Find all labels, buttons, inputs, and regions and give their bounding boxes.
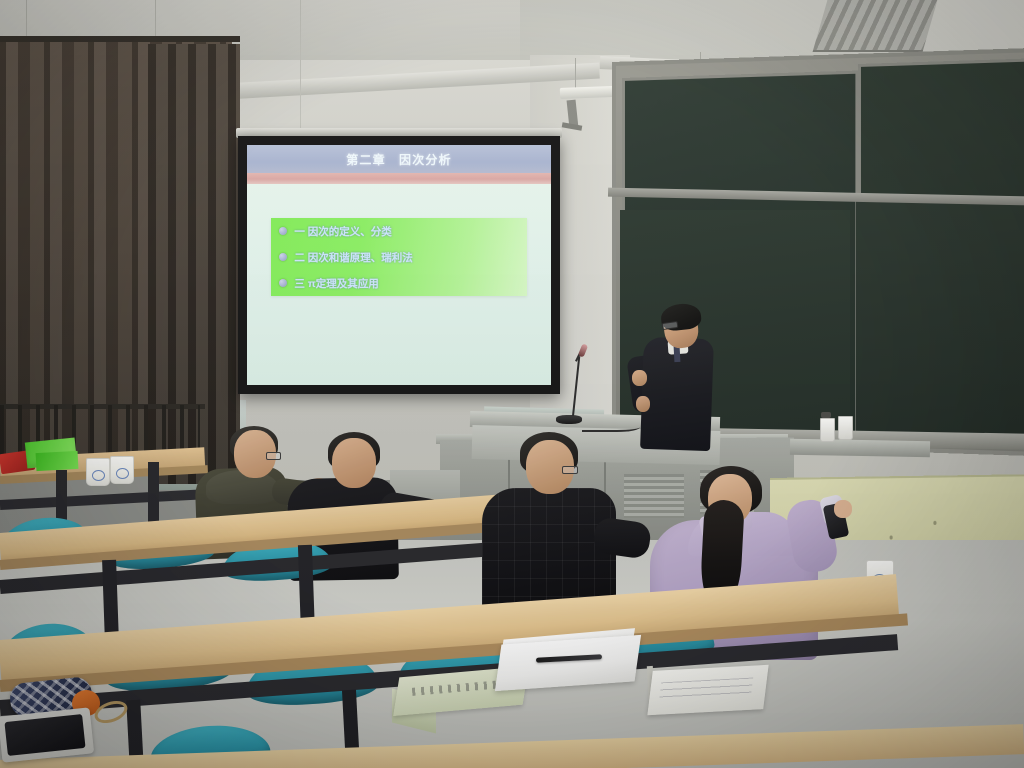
classroom-photo-scene: 第二章 因次分析 一 因次的定义、分类 二 因次和谐原理、瑞利法 三 π定理及其… (0, 0, 1024, 768)
lecturer-hand (632, 370, 647, 386)
bullet-dot-icon (279, 227, 287, 235)
attendee-1-hood (206, 470, 278, 504)
slide-divider-stripe (247, 173, 551, 184)
bullet-dot-icon (279, 253, 287, 261)
slide-bullet-text: 一 因次的定义、分类 (294, 224, 391, 239)
slide-highlight-box: 一 因次的定义、分类 二 因次和谐原理、瑞利法 三 π定理及其应用 (271, 218, 526, 296)
cup-logo-icon (92, 470, 105, 481)
lecturer-hand (636, 396, 650, 412)
list-item: 一 因次的定义、分类 (271, 218, 526, 244)
cup-logo-icon (116, 468, 129, 479)
slide-title-band: 第二章 因次分析 (247, 145, 551, 173)
list-item: 三 π定理及其应用 (271, 270, 526, 296)
paper-cup (820, 418, 835, 442)
lecturer-tie (674, 346, 681, 362)
list-item: 二 因次和谐原理、瑞利法 (271, 244, 526, 270)
blackboard-panel-lower (856, 200, 1024, 435)
paper-cup (838, 416, 853, 440)
slide-bullet-text: 三 π定理及其应用 (294, 276, 378, 291)
back-desk-shelf (0, 490, 200, 510)
slide-title: 第二章 因次分析 (346, 151, 452, 168)
attendee-2-head (332, 438, 376, 488)
glasses-icon (266, 452, 281, 460)
projector-screen: 第二章 因次分析 一 因次的定义、分类 二 因次和谐原理、瑞利法 三 π定理及其… (247, 145, 551, 385)
microphone-base (556, 415, 582, 424)
bullet-dot-icon (279, 279, 287, 287)
slide-bullet-text: 二 因次和谐原理、瑞利法 (294, 250, 412, 265)
cable (582, 420, 640, 432)
curtain-rod (0, 36, 240, 42)
lamp-wire (300, 0, 301, 135)
side-ledge (790, 439, 930, 457)
ceiling-vent-icon (813, 0, 938, 52)
paper-cup (86, 458, 110, 486)
paper-cup (110, 456, 134, 484)
green-bag-fold (36, 451, 79, 471)
attendee-4-hand (834, 500, 852, 518)
cup-lid (821, 412, 831, 418)
cabinet-vent (624, 474, 684, 518)
attendee-3-body (482, 488, 616, 612)
glasses-icon (562, 466, 578, 474)
slide-body: 一 因次的定义、分类 二 因次和谐原理、瑞利法 三 π定理及其应用 (247, 184, 551, 385)
